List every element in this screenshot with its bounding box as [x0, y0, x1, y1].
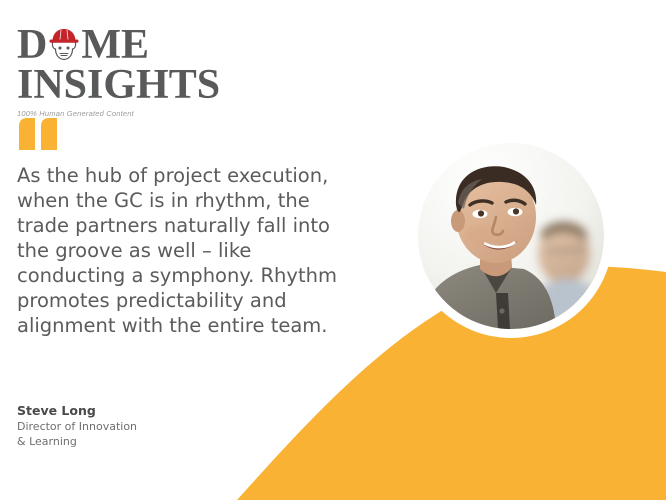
- logo-letters-me: ME: [81, 24, 149, 66]
- author-role-line-2: & Learning: [17, 434, 137, 449]
- author-name: Steve Long: [17, 403, 137, 419]
- author-portrait-avatar: [418, 143, 604, 329]
- quotation-mark-icon: [17, 117, 61, 155]
- attribution-block: Steve Long Director of Innovation & Lear…: [17, 403, 137, 449]
- eye-left: [59, 46, 62, 49]
- quote-glyph-left: [19, 118, 35, 150]
- brand-logo[interactable]: D ME INSIG: [17, 24, 220, 118]
- logo-wordmark-line1: D ME: [17, 24, 220, 66]
- subject-ear: [451, 210, 465, 232]
- hard-hat-icon: [48, 28, 80, 64]
- eye-right: [67, 46, 70, 49]
- quote-glyph-right: [41, 118, 57, 150]
- author-role-line-1: Director of Innovation: [17, 419, 137, 434]
- shirt-button: [499, 308, 504, 313]
- quote-body-text: As the hub of project execution, when th…: [17, 163, 347, 338]
- portrait-illustration: [418, 143, 604, 329]
- face-outline: [53, 41, 76, 60]
- logo-wordmark-line2: INSIGHTS: [17, 63, 220, 107]
- hat-brim: [50, 40, 79, 43]
- quote-card: D ME INSIG: [0, 0, 666, 500]
- cheek-shading: [466, 226, 490, 244]
- hat-dome: [53, 29, 76, 40]
- logo-letter-d: D: [17, 24, 47, 66]
